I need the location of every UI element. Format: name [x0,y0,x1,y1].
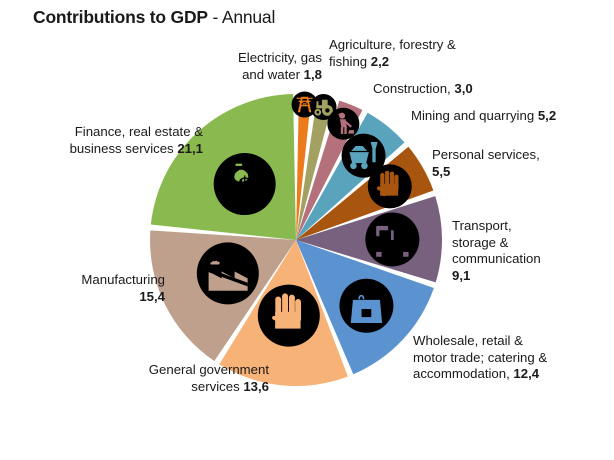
slice-label-personal-services: Personal services, 5,5 [432,147,612,180]
pie-slice[interactable] [296,96,334,240]
slice-label-manufacturing-text: Manufacturing [81,272,165,287]
construction-worker-icon [327,108,359,140]
slice-label-manufacturing-value: 15,4 [139,289,165,304]
slice-label-wholesale: Wholesale, retail & motor trade; caterin… [413,333,613,383]
hand-icon [368,164,412,208]
pie-slice[interactable] [296,196,442,282]
slice-label-government: General government services 13,6 [84,362,269,395]
svg-text:$: $ [238,171,251,201]
pie-icons-group: $ [197,91,420,346]
pie-slice[interactable] [296,94,312,240]
money-bag-icon: $ [214,153,276,215]
slice-label-construction-value: 3,0 [454,81,472,96]
tractor-icon [311,94,337,120]
page-title-main: Contributions to GDP [33,7,208,27]
slice-label-manufacturing: Manufacturing 15,4 [20,272,165,305]
slice-label-agriculture: Agriculture, forestry & fishing 2,2 [329,37,509,70]
power-pylon-icon [292,91,318,117]
slice-label-mining: Mining and quarrying 5,2 [411,108,611,125]
page-title-sub: - Annual [208,7,275,27]
shopping-bag-icon [339,279,393,333]
slice-label-agriculture-text: Agriculture, forestry & fishing [329,37,456,69]
pie-slice[interactable] [296,101,362,240]
slice-label-finance: Finance, real estate & business services… [18,124,203,157]
slice-label-personal-services-text: Personal services, [432,147,540,162]
mine-cart-icon [342,134,386,178]
pie-slice[interactable] [296,147,433,240]
slice-label-government-value: 13,6 [243,379,269,394]
slice-label-construction: Construction, 3,0 [373,81,563,98]
pie-slice[interactable] [150,230,296,361]
slice-label-transport-text: Transport, storage & communication [452,218,541,266]
slice-label-agriculture-value: 2,2 [371,54,389,69]
slice-label-construction-text: Construction, [373,81,454,96]
slice-label-mining-text: Mining and quarrying [411,108,538,123]
slice-label-electricity-value: 1,8 [304,67,322,82]
slice-label-finance-value: 21,1 [177,141,203,156]
hand-icon [258,285,320,347]
slice-label-transport-value: 9,1 [452,268,470,283]
slice-label-personal-services-value: 5,5 [432,164,450,179]
factory-icon [197,242,259,304]
slice-label-electricity: Electricity, gas and water 1,8 [172,50,322,83]
pie-slice[interactable] [296,113,405,240]
pie-slice[interactable] [151,94,296,240]
page-title: Contributions to GDP - Annual [33,7,275,28]
bus-icon [365,212,419,266]
slice-label-wholesale-value: 12,4 [513,366,539,381]
slice-label-mining-value: 5,2 [538,108,556,123]
slice-label-transport: Transport, storage & communication 9,1 [452,218,612,284]
